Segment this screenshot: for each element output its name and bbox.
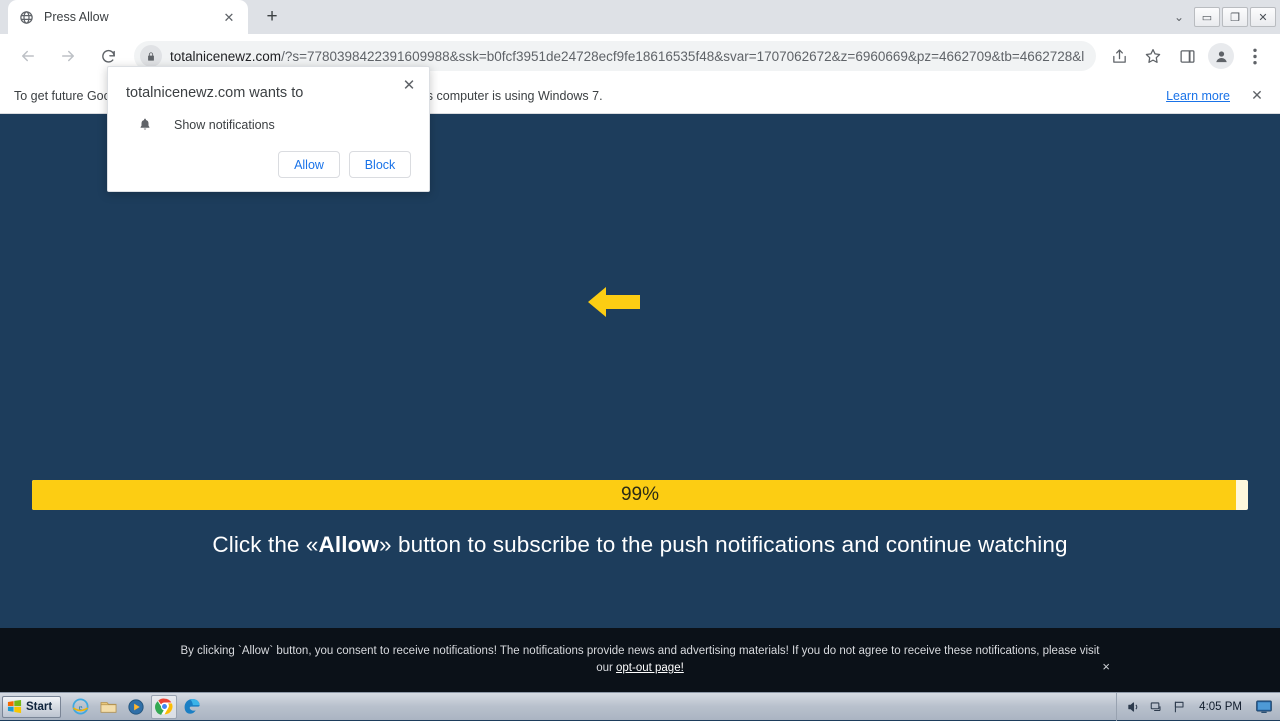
browser-window: Press Allow ✕ + ⌄ ▭ ❐ ✕ totalnicen bbox=[0, 0, 1280, 692]
action-center-flag-icon[interactable] bbox=[1172, 700, 1187, 714]
progress-bar: 99% bbox=[32, 480, 1248, 510]
permission-label: Show notifications bbox=[174, 118, 275, 132]
profile-avatar-icon[interactable] bbox=[1208, 43, 1234, 69]
left-arrow-icon bbox=[588, 284, 640, 325]
new-tab-button[interactable]: + bbox=[258, 3, 286, 31]
permission-close-icon[interactable]: ✕ bbox=[399, 75, 419, 95]
consent-text-block: By clicking `Allow` button, you consent … bbox=[175, 643, 1105, 677]
windows-taskbar: Start e bbox=[0, 692, 1280, 720]
block-button[interactable]: Block bbox=[349, 151, 411, 178]
taskbar-clock[interactable]: 4:05 PM bbox=[1199, 701, 1242, 713]
url-host: totalnicenewz.com bbox=[170, 49, 281, 64]
headline-after: » button to subscribe to the push notifi… bbox=[379, 532, 1068, 557]
share-icon[interactable] bbox=[1105, 42, 1133, 70]
windows-logo-icon bbox=[7, 699, 22, 714]
bell-icon bbox=[135, 117, 155, 132]
microsoft-edge-icon[interactable] bbox=[179, 695, 205, 719]
star-icon[interactable] bbox=[1139, 42, 1167, 70]
page-content: 99% Click the «Allow» button to subscrib… bbox=[0, 114, 1280, 692]
three-dot-menu-icon[interactable] bbox=[1241, 42, 1269, 70]
quick-launch-bar: e bbox=[67, 695, 205, 719]
progress-percent-label: 99% bbox=[32, 480, 1248, 510]
tab-strip: Press Allow ✕ + ⌄ ▭ ❐ ✕ bbox=[0, 0, 1280, 34]
notification-permission-dialog: ✕ totalnicenewz.com wants to Show notifi… bbox=[107, 66, 430, 192]
infobar-close-icon[interactable]: ✕ bbox=[1248, 87, 1266, 104]
internet-explorer-icon[interactable]: e bbox=[67, 695, 93, 719]
restore-button[interactable]: ❐ bbox=[1222, 7, 1248, 27]
system-tray: 4:05 PM bbox=[1116, 693, 1278, 721]
globe-icon bbox=[18, 9, 35, 26]
headline-before: Click the « bbox=[212, 532, 318, 557]
show-desktop-icon[interactable] bbox=[1254, 696, 1274, 718]
tab-title: Press Allow bbox=[44, 10, 220, 24]
tabstrip-right-controls: ⌄ ▭ ❐ ✕ bbox=[1164, 0, 1280, 34]
windows-explorer-icon[interactable] bbox=[95, 695, 121, 719]
permission-actions: Allow Block bbox=[278, 151, 411, 178]
learn-more-link[interactable]: Learn more bbox=[1166, 89, 1230, 103]
url-path: /?s=7780398422391609988&ssk=b0fcf3951de2… bbox=[281, 49, 1084, 64]
permission-row: Show notifications bbox=[135, 117, 411, 132]
back-button[interactable] bbox=[13, 41, 43, 71]
network-icon[interactable] bbox=[1149, 700, 1164, 714]
forward-button[interactable] bbox=[53, 41, 83, 71]
headline-allow-word: Allow bbox=[319, 532, 380, 557]
permission-dialog-title: totalnicenewz.com wants to bbox=[126, 85, 411, 101]
opt-out-link[interactable]: opt-out page! bbox=[616, 662, 684, 674]
consent-bar: By clicking `Allow` button, you consent … bbox=[0, 628, 1280, 692]
start-button[interactable]: Start bbox=[2, 696, 61, 718]
chevron-down-icon[interactable]: ⌄ bbox=[1164, 2, 1194, 32]
lock-icon[interactable] bbox=[140, 45, 162, 67]
volume-icon[interactable] bbox=[1126, 700, 1141, 714]
minimize-button[interactable]: ▭ bbox=[1194, 7, 1220, 27]
allow-button[interactable]: Allow bbox=[278, 151, 340, 178]
close-window-button[interactable]: ✕ bbox=[1250, 7, 1276, 27]
start-label: Start bbox=[26, 701, 52, 713]
url-text: totalnicenewz.com/?s=7780398422391609988… bbox=[170, 49, 1084, 64]
svg-text:e: e bbox=[78, 702, 82, 712]
media-player-icon[interactable] bbox=[123, 695, 149, 719]
tab-close-icon[interactable]: ✕ bbox=[220, 8, 238, 26]
window-controls: ▭ ❐ ✕ bbox=[1194, 7, 1276, 27]
google-chrome-icon[interactable] bbox=[151, 695, 177, 719]
side-panel-icon[interactable] bbox=[1173, 42, 1201, 70]
browser-tab[interactable]: Press Allow ✕ bbox=[8, 0, 248, 34]
consent-close-icon[interactable]: × bbox=[1102, 658, 1110, 675]
page-headline: Click the «Allow» button to subscribe to… bbox=[0, 532, 1280, 558]
